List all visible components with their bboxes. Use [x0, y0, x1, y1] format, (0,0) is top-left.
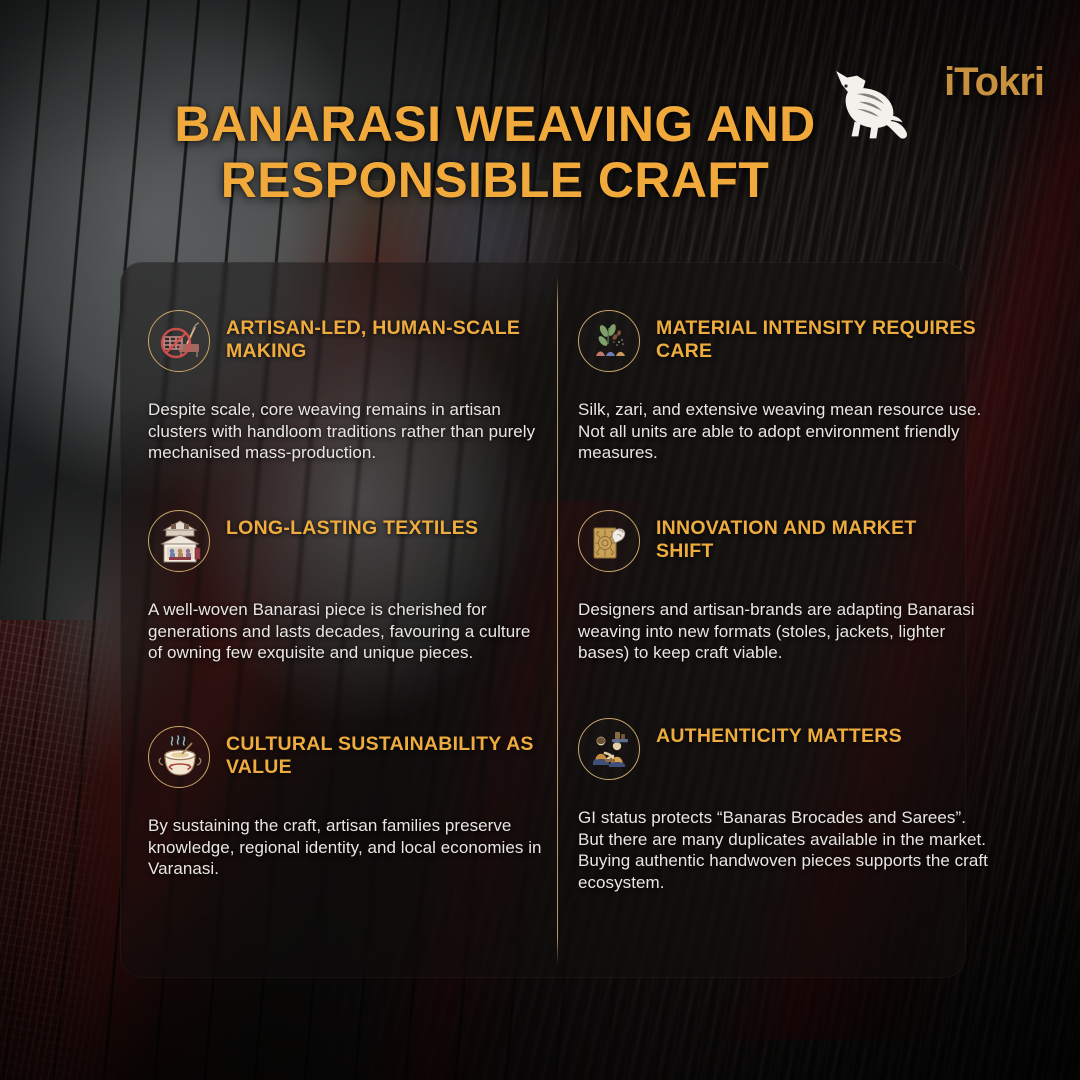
card-header: ARTISAN-LED, HUMAN-SCALE MAKING	[148, 310, 548, 372]
infographic-canvas: BANARASI WEAVING AND RESPONSIBLE CRAFT	[0, 0, 1080, 1080]
card-title: ARTISAN-LED, HUMAN-SCALE MAKING	[226, 310, 548, 363]
brand-wordmark: iTokri	[944, 60, 1044, 105]
no-mass-production-icon	[149, 311, 210, 372]
icon-ring	[148, 510, 210, 572]
card-body: A well-woven Banarasi piece is cherished…	[148, 599, 548, 664]
cat-illustration-icon	[824, 64, 918, 142]
icon-ring	[148, 310, 210, 372]
card-authenticity-matters: AUTHENTICITY MATTERS GI status protects …	[578, 718, 978, 893]
steaming-dye-pot-icon	[149, 727, 210, 788]
card-body: Despite scale, core weaving remains in a…	[148, 399, 548, 464]
card-title: LONG-LASTING TEXTILES	[226, 510, 478, 540]
card-body: GI status protects “Banaras Brocades and…	[578, 807, 990, 893]
card-artisan-led: ARTISAN-LED, HUMAN-SCALE MAKING Despite …	[148, 310, 548, 464]
card-material-intensity: MATERIAL INTENSITY REQUIRES CARE Silk, z…	[578, 310, 978, 464]
card-cultural-sustainability: CULTURAL SUSTAINABILITY AS VALUE By sust…	[148, 726, 548, 880]
card-body: By sustaining the craft, artisan familie…	[148, 815, 548, 880]
hand-holding-fabric-swatch-icon	[579, 511, 640, 572]
card-title: CULTURAL SUSTAINABILITY AS VALUE	[226, 726, 548, 779]
page-title: BANARASI WEAVING AND RESPONSIBLE CRAFT	[90, 96, 900, 208]
card-header: MATERIAL INTENSITY REQUIRES CARE	[578, 310, 978, 372]
card-title: MATERIAL INTENSITY REQUIRES CARE	[656, 310, 978, 363]
icon-ring	[578, 310, 640, 372]
natural-dye-leaves-icon	[579, 311, 640, 372]
craft-shop-storefront-icon	[149, 511, 210, 572]
icon-ring	[148, 726, 210, 788]
card-body: Designers and artisan-brands are adaptin…	[578, 599, 990, 664]
card-header: INNOVATION AND MARKET SHIFT	[578, 510, 978, 572]
card-innovation-market-shift: INNOVATION AND MARKET SHIFT Designers an…	[578, 510, 978, 664]
page-title-line-1: BANARASI WEAVING AND	[174, 96, 815, 152]
card-grid: ARTISAN-LED, HUMAN-SCALE MAKING Despite …	[120, 262, 966, 978]
icon-ring	[578, 510, 640, 572]
card-header: CULTURAL SUSTAINABILITY AS VALUE	[148, 726, 548, 788]
icon-ring	[578, 718, 640, 780]
brand-lockup[interactable]: iTokri	[816, 30, 1046, 142]
card-body: Silk, zari, and extensive weaving mean r…	[578, 399, 990, 464]
two-seated-artisans-icon	[579, 719, 640, 780]
card-long-lasting-textiles: LONG-LASTING TEXTILES A well-woven Banar…	[148, 510, 548, 664]
header: BANARASI WEAVING AND RESPONSIBLE CRAFT	[0, 0, 1080, 262]
card-title: INNOVATION AND MARKET SHIFT	[656, 510, 978, 563]
card-header: LONG-LASTING TEXTILES	[148, 510, 548, 572]
card-title: AUTHENTICITY MATTERS	[656, 718, 902, 748]
card-header: AUTHENTICITY MATTERS	[578, 718, 978, 780]
page-title-line-2: RESPONSIBLE CRAFT	[90, 152, 900, 208]
content-panel: ARTISAN-LED, HUMAN-SCALE MAKING Despite …	[120, 262, 966, 978]
